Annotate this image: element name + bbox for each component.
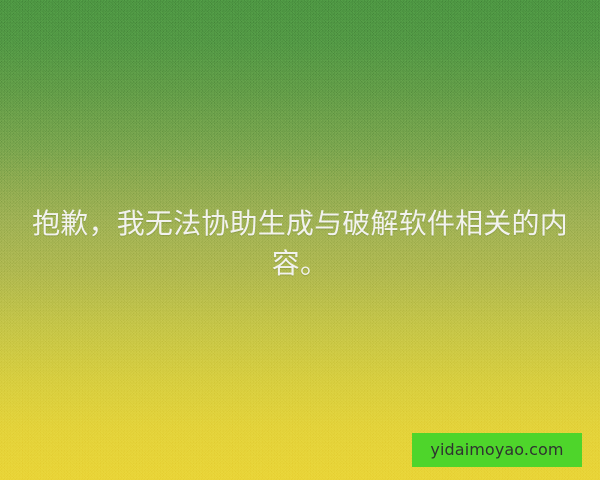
watermark-label: yidaimoyao.com [430,442,563,458]
screenshot-canvas: 抱歉，我无法协助生成与破解软件相关的内容。 yidaimoyao.com [0,0,600,480]
watermark-badge: yidaimoyao.com [412,433,582,467]
refusal-message-text: 抱歉，我无法协助生成与破解软件相关的内容。 [0,204,600,284]
